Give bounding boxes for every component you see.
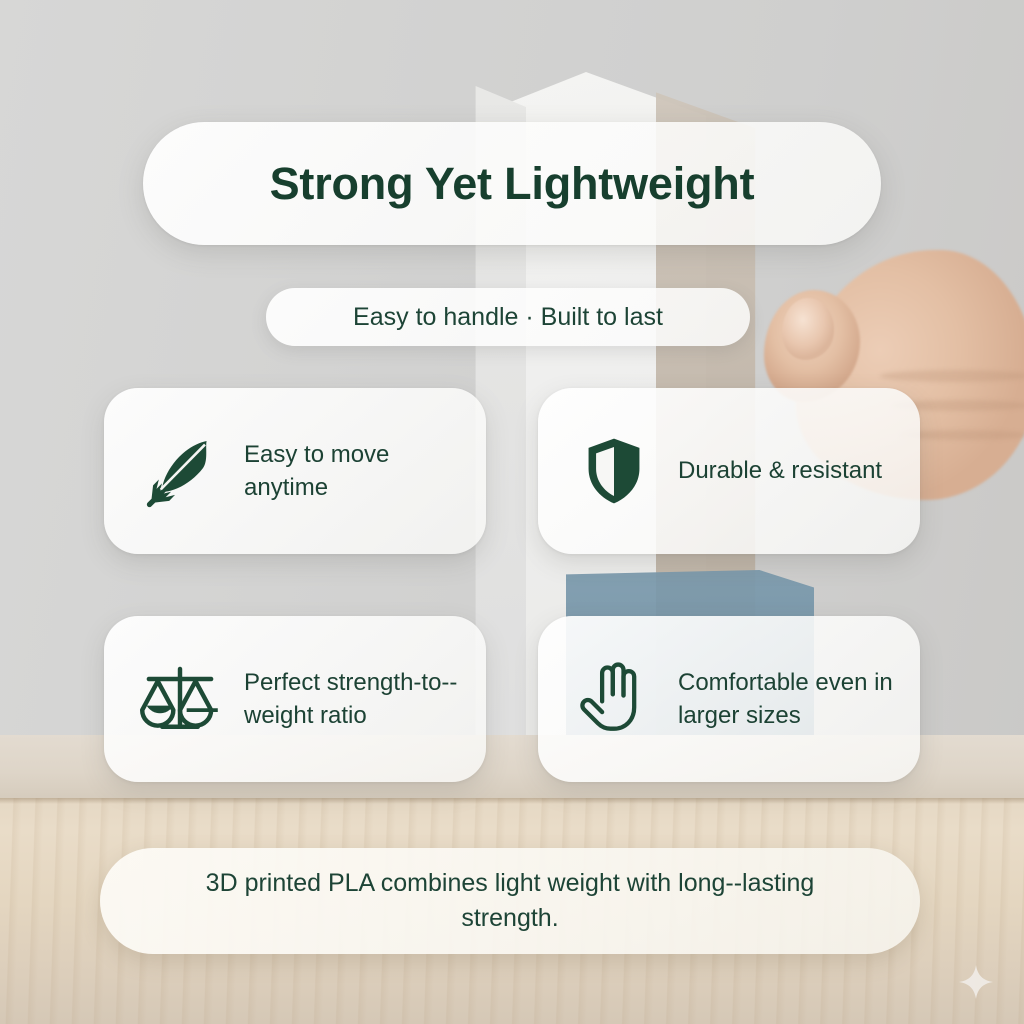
page-subtitle: Easy to handle · Built to last: [353, 303, 663, 332]
feature-card-comfortable[interactable]: Comfortable even in larger sizes: [538, 616, 920, 782]
feature-label: Perfect strength-to--weight ratio: [244, 666, 464, 732]
shield-icon: [572, 429, 656, 513]
hand-icon: [572, 657, 656, 741]
feature-card-durable[interactable]: Durable & resistant: [538, 388, 920, 554]
feature-label: Durable & resistant: [678, 454, 882, 487]
feature-card-strength-to-weight[interactable]: Perfect strength-to--weight ratio: [104, 616, 486, 782]
footer-caption: 3D printed PLA combines light weight wit…: [160, 866, 860, 937]
title-pill: Strong Yet Lightweight: [143, 122, 881, 245]
feature-card-easy-to-move[interactable]: Easy to move anytime: [104, 388, 486, 554]
footer-caption-pill: 3D printed PLA combines light weight wit…: [100, 848, 920, 954]
feather-icon: [138, 429, 222, 513]
sparkle-icon: [956, 962, 996, 1002]
page-title: Strong Yet Lightweight: [270, 158, 755, 210]
plank-top-edge: [0, 798, 1024, 804]
hand-crease: [880, 370, 1024, 382]
feature-label: Comfortable even in larger sizes: [678, 666, 898, 732]
feature-label: Easy to move anytime: [244, 438, 464, 504]
subtitle-pill: Easy to handle · Built to last: [266, 288, 750, 346]
thumb-nail: [782, 298, 834, 360]
promo-graphic: Strong Yet Lightweight Easy to handle · …: [0, 0, 1024, 1024]
scales-icon: [138, 657, 222, 741]
